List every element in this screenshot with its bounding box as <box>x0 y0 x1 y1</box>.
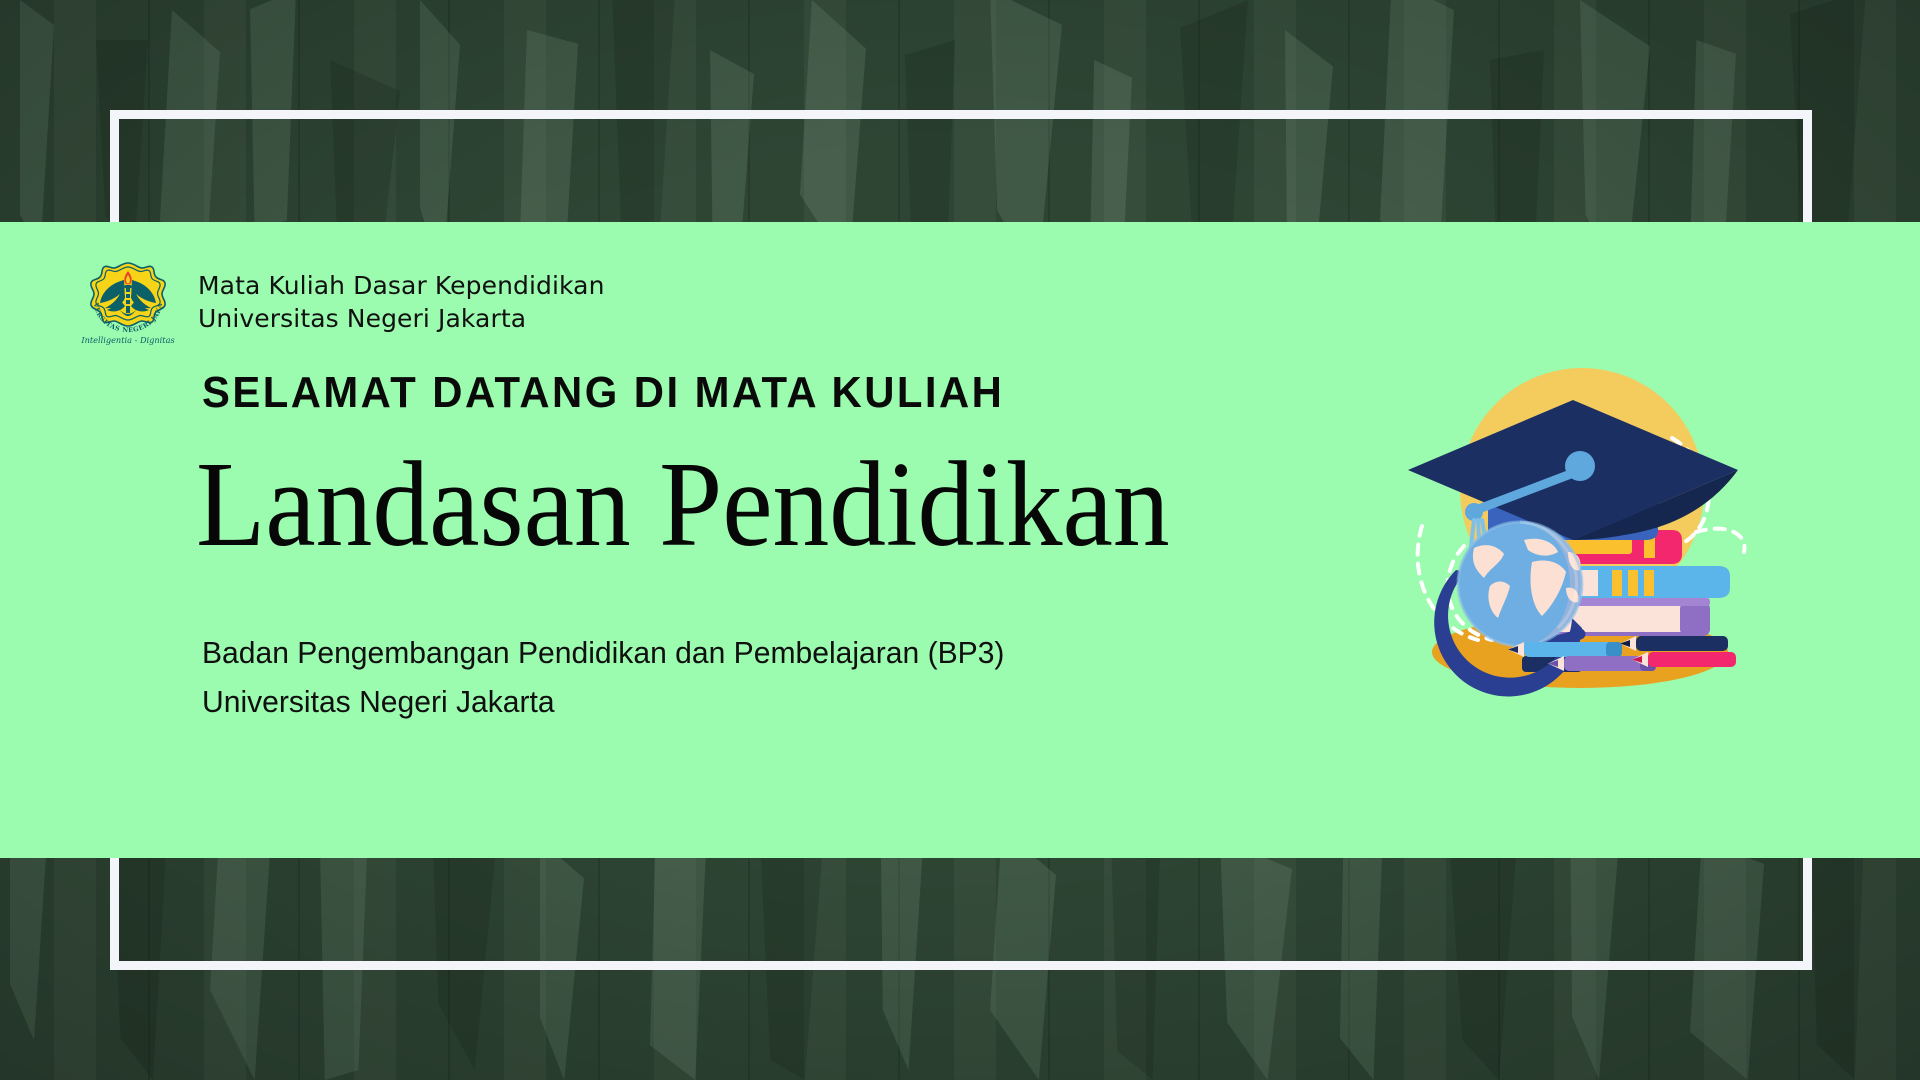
course-title: Landasan Pendidikan <box>196 444 1170 566</box>
book-blue-stripe-1 <box>1612 570 1622 596</box>
book-blue-stripe-2 <box>1628 570 1638 596</box>
footer-line-university: Universitas Negeri Jakarta <box>202 683 1004 720</box>
book-blue-stripe-3 <box>1644 570 1654 596</box>
book-purple-spine <box>1680 602 1710 636</box>
header-line-university: Universitas Negeri Jakarta <box>198 304 605 334</box>
slide-footer-lines: Badan Pengembangan Pendidikan dan Pembel… <box>202 634 1029 720</box>
welcome-eyebrow-text: SELAMAT DATANG DI MATA KULIAH <box>202 368 1004 418</box>
slide-header: UNIVERSITAS NEGERI JAKARTA Intelligentia… <box>76 258 605 362</box>
footer-line-department: Badan Pengembangan Pendidikan dan Pembel… <box>202 634 1004 671</box>
unj-university-logo: UNIVERSITAS NEGERI JAKARTA Intelligentia… <box>76 258 180 362</box>
pencil-pink <box>1632 652 1736 667</box>
logo-motto-text: Intelligentia - Dignitas <box>80 335 174 345</box>
pencil-blue <box>1508 642 1622 657</box>
presentation-slide: UNIVERSITAS NEGERI JAKARTA Intelligentia… <box>0 0 1920 1080</box>
content-band: UNIVERSITAS NEGERI JAKARTA Intelligentia… <box>0 222 1920 858</box>
education-illustration <box>1400 340 1750 740</box>
dashed-orbit-right-tail <box>1696 529 1745 552</box>
header-institution-lines: Mata Kuliah Dasar Kependidikan Universit… <box>198 271 605 350</box>
header-line-course: Mata Kuliah Dasar Kependidikan <box>198 271 605 301</box>
